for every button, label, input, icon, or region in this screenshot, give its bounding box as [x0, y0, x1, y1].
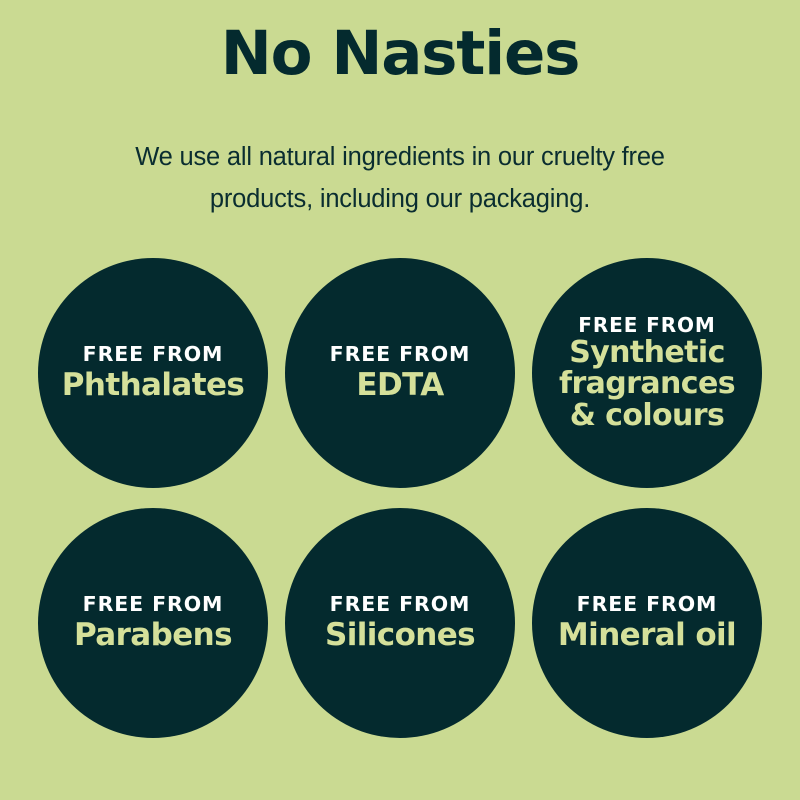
badge-substance: Phthalates [30, 370, 276, 402]
badge-label: FREE FROM [524, 315, 770, 335]
badge-parabens: FREE FROM Parabens [38, 508, 268, 738]
badge-label: FREE FROM [30, 594, 276, 615]
badge-label: FREE FROM [30, 344, 276, 365]
badge-edta: FREE FROM EDTA [285, 258, 515, 488]
badge-label: FREE FROM [524, 594, 770, 615]
badge-substance: Synthetic fragrances & colours [524, 337, 770, 431]
badge-substance-line-1: Synthetic [524, 337, 770, 368]
badge-content: FREE FROM Synthetic fragrances & colours [524, 315, 770, 431]
badge-substance-line-3: & colours [524, 400, 770, 431]
badge-synthetic-fragrances-and-colours: FREE FROM Synthetic fragrances & colours [532, 258, 762, 488]
badge-substance: Mineral oil [524, 620, 770, 652]
badge-substance-line-1: EDTA [277, 370, 523, 402]
badge-substance-line-1: Silicones [277, 620, 523, 652]
badge-content: FREE FROM Mineral oil [524, 594, 770, 651]
badge-content: FREE FROM Parabens [30, 594, 276, 651]
badge-substance-line-1: Parabens [30, 620, 276, 652]
badge-silicones: FREE FROM Silicones [285, 508, 515, 738]
badge-substance-line-1: Mineral oil [524, 620, 770, 652]
badge-grid: FREE FROM Phthalates FREE FROM EDTA FREE… [0, 0, 800, 800]
badge-substance: Parabens [30, 620, 276, 652]
badge-content: FREE FROM Silicones [277, 594, 523, 651]
badge-substance: EDTA [277, 370, 523, 402]
badge-content: FREE FROM Phthalates [30, 344, 276, 401]
badge-content: FREE FROM EDTA [277, 344, 523, 401]
no-nasties-panel: No Nasties We use all natural ingredient… [0, 0, 800, 800]
badge-mineral-oil: FREE FROM Mineral oil [532, 508, 762, 738]
badge-phthalates: FREE FROM Phthalates [38, 258, 268, 488]
badge-label: FREE FROM [277, 344, 523, 365]
badge-substance: Silicones [277, 620, 523, 652]
badge-label: FREE FROM [277, 594, 523, 615]
badge-substance-line-2: fragrances [524, 368, 770, 399]
badge-substance-line-1: Phthalates [30, 370, 276, 402]
